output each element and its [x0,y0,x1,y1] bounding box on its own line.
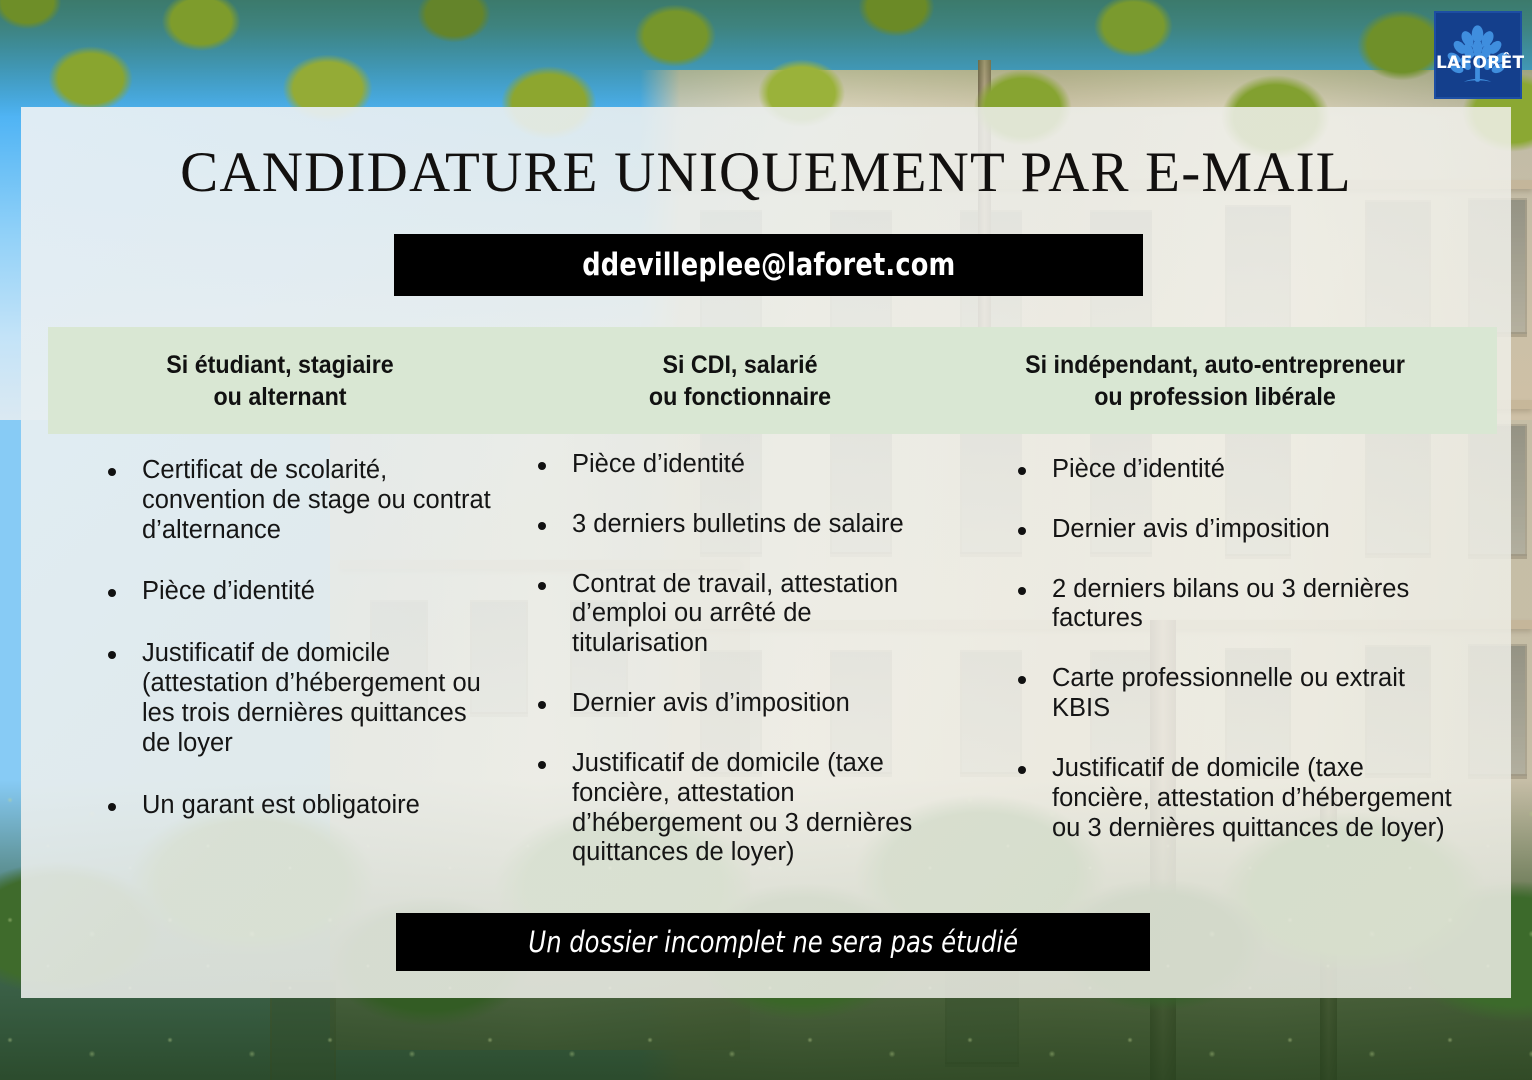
list-item-label: Justificatif de domicile (attestation d’… [142,639,481,756]
list-item: Certificat de scolarité, convention de s… [100,456,500,545]
column-header-line-1: Si étudiant, stagiaire [85,349,476,381]
list-item: Pièce d’identité [530,450,950,480]
column-header-line-2: ou fonctionnaire [545,381,936,413]
bullet-dot-icon [108,468,116,476]
list-item-label: Pièce d’identité [142,577,315,605]
bullet-dot-icon [538,522,546,530]
column-header-line-1: Si CDI, salarié [545,349,936,381]
column-header-line-2: ou alternant [85,381,476,413]
list-item: Justificatif de domicile (attestation d’… [100,639,500,758]
column-header-independent: Si indépendant, auto-entrepreneur ou pro… [973,349,1457,413]
document-list-student: Certificat de scolarité, convention de s… [100,456,500,852]
list-item-label: 2 derniers bilans ou 3 dernières facture… [1052,575,1409,633]
list-item-label: Justificatif de domicile (taxe foncière,… [572,749,912,866]
list-item: 3 derniers bulletins de salaire [530,510,950,540]
email-address[interactable]: ddevilleplee@laforet.com [582,247,955,283]
list-item: Justificatif de domicile (taxe foncière,… [530,749,950,868]
list-item: Pièce d’identité [100,577,500,607]
bullet-dot-icon [108,651,116,659]
brand-name: LAFORÊT [1436,53,1520,73]
list-item-label: Pièce d’identité [1052,455,1225,483]
list-item-label: 3 derniers bulletins de salaire [572,510,904,538]
page-title: CANDIDATURE UNIQUEMENT PAR E-MAIL [0,140,1532,205]
bullet-dot-icon [538,701,546,709]
bullet-dot-icon [1018,587,1026,595]
bullet-dot-icon [108,589,116,597]
list-item-label: Contrat de travail, attestation d’emploi… [572,570,898,658]
document-list-employee: Pièce d’identité 3 derniers bulletins de… [530,450,950,898]
laforet-logo[interactable]: LAFORÊT [1434,11,1522,99]
bullet-dot-icon [1018,676,1026,684]
bullet-dot-icon [538,582,546,590]
list-item: Dernier avis d’imposition [1010,515,1460,545]
list-item-label: Certificat de scolarité, convention de s… [142,456,491,544]
bullet-dot-icon [1018,527,1026,535]
bullet-dot-icon [108,803,116,811]
bullet-dot-icon [538,462,546,470]
column-header-employee: Si CDI, salarié ou fonctionnaire [545,349,936,413]
bullet-dot-icon [1018,766,1026,774]
poster-canvas: CANDIDATURE UNIQUEMENT PAR E-MAIL ddevil… [0,0,1532,1080]
column-header-line-1: Si indépendant, auto-entrepreneur [973,349,1457,381]
list-item-label: Dernier avis d’imposition [1052,515,1330,543]
warning-banner: Un dossier incomplet ne sera pas étudié [396,913,1150,971]
bullet-dot-icon [538,761,546,769]
document-list-independent: Pièce d’identité Dernier avis d’impositi… [1010,455,1460,873]
list-item: Justificatif de domicile (taxe foncière,… [1010,754,1460,843]
category-headers: Si étudiant, stagiaire ou alternant Si C… [48,327,1497,434]
warning-text: Un dossier incomplet ne sera pas étudié [528,925,1018,959]
list-item-label: Dernier avis d’imposition [572,689,850,717]
column-header-line-2: ou profession libérale [973,381,1457,413]
list-item: Carte professionnelle ou extrait KBIS [1010,664,1460,724]
list-item: Dernier avis d’imposition [530,689,950,719]
bullet-dot-icon [1018,467,1026,475]
list-item: Un garant est obligatoire [100,791,500,821]
column-header-student: Si étudiant, stagiaire ou alternant [85,349,476,413]
list-item: Pièce d’identité [1010,455,1460,485]
list-item: Contrat de travail, attestation d’emploi… [530,570,950,659]
list-item: 2 derniers bilans ou 3 dernières facture… [1010,575,1460,635]
list-item-label: Justificatif de domicile (taxe foncière,… [1052,754,1452,842]
email-banner[interactable]: ddevilleplee@laforet.com [394,234,1143,296]
list-item-label: Carte professionnelle ou extrait KBIS [1052,664,1405,722]
list-item-label: Pièce d’identité [572,450,745,478]
list-item-label: Un garant est obligatoire [142,791,420,819]
